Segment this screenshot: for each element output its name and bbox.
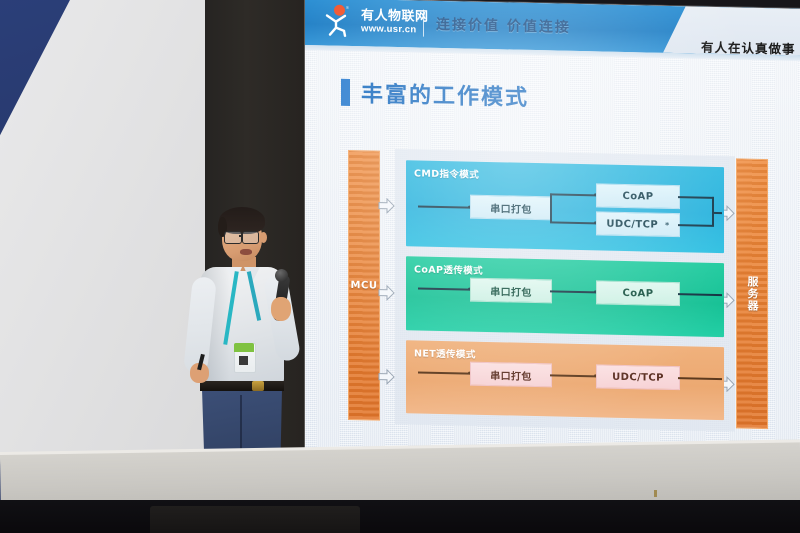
speaker-badge-header (234, 343, 254, 352)
mode-title-coap: CoAP透传模式 (414, 261, 483, 277)
node-cmd-coap: CoAP (596, 183, 680, 209)
speaker-mouth (240, 249, 252, 255)
brand-url: www.usr.cn (361, 24, 429, 35)
glasses-right-lens-icon (242, 231, 259, 244)
slide-title-row: 丰富的工作模式 (341, 76, 529, 112)
node-net-serial-pack: 串口打包 (470, 362, 552, 388)
glasses-left-lens-icon (224, 231, 242, 244)
page-title: 丰富的工作模式 (361, 76, 529, 112)
diagram-node-server: 服务器 (736, 158, 768, 429)
speaker-right-hand (271, 297, 291, 321)
mode-title-net: NET透传模式 (414, 345, 476, 360)
mode-row-net: NET透传模式 串口打包 UDC/TCP (406, 340, 724, 420)
speaker-belt-buckle (252, 381, 264, 391)
brand-logo: ® 有人物联网 www.usr.cn (323, 4, 429, 38)
node-cmd-udc-tcp-marker: * (665, 220, 670, 229)
speaker-belt (200, 381, 284, 391)
mode-row-cmd: CMD指令模式 串口打包 CoAP UDC/TCP * (406, 160, 724, 253)
brand-text: 有人物联网 www.usr.cn (361, 9, 429, 35)
arrow-mcu-to-coap (378, 285, 395, 301)
brand-name-cn: 有人物联网 (361, 9, 429, 23)
mcu-label: MCU (351, 279, 378, 291)
mode-title-cmd: CMD指令模式 (414, 165, 479, 180)
node-cmd-udc-tcp: UDC/TCP * (596, 211, 680, 237)
stage-lip-marker (654, 490, 657, 497)
server-label: 服务器 (744, 276, 760, 312)
speaker-ear (260, 232, 267, 243)
registered-mark: ® (346, 5, 349, 10)
photo-scene: ® 有人物联网 www.usr.cn 连接价值 价值连接 有人在认 (0, 0, 800, 533)
projection-screen: ® 有人物联网 www.usr.cn 连接价值 价值连接 有人在认 (305, 0, 800, 481)
diagram-node-mcu: MCU (348, 150, 380, 421)
header-divider (423, 10, 424, 37)
glasses-bridge (239, 235, 243, 237)
header-tagline: 连接价值 价值连接 (436, 14, 571, 37)
stage-floor (0, 500, 800, 533)
node-coap-serial-pack: 串口打包 (470, 278, 552, 304)
node-net-udc-tcp: UDC/TCP (596, 364, 680, 390)
node-coap-coap: CoAP (596, 280, 680, 306)
speaker-badge-qr (239, 356, 248, 365)
arrow-mcu-to-cmd (378, 198, 395, 214)
usr-person-icon: ® (323, 4, 355, 37)
stage-monitor-speaker (150, 506, 360, 533)
title-accent-bar (341, 78, 350, 105)
mode-row-coap: CoAP透传模式 串口打包 CoAP (406, 256, 724, 337)
workmode-diagram: MCU 服务器 (340, 142, 772, 434)
node-cmd-serial-pack: 串口打包 (470, 195, 552, 221)
arrow-mcu-to-net (378, 369, 395, 385)
